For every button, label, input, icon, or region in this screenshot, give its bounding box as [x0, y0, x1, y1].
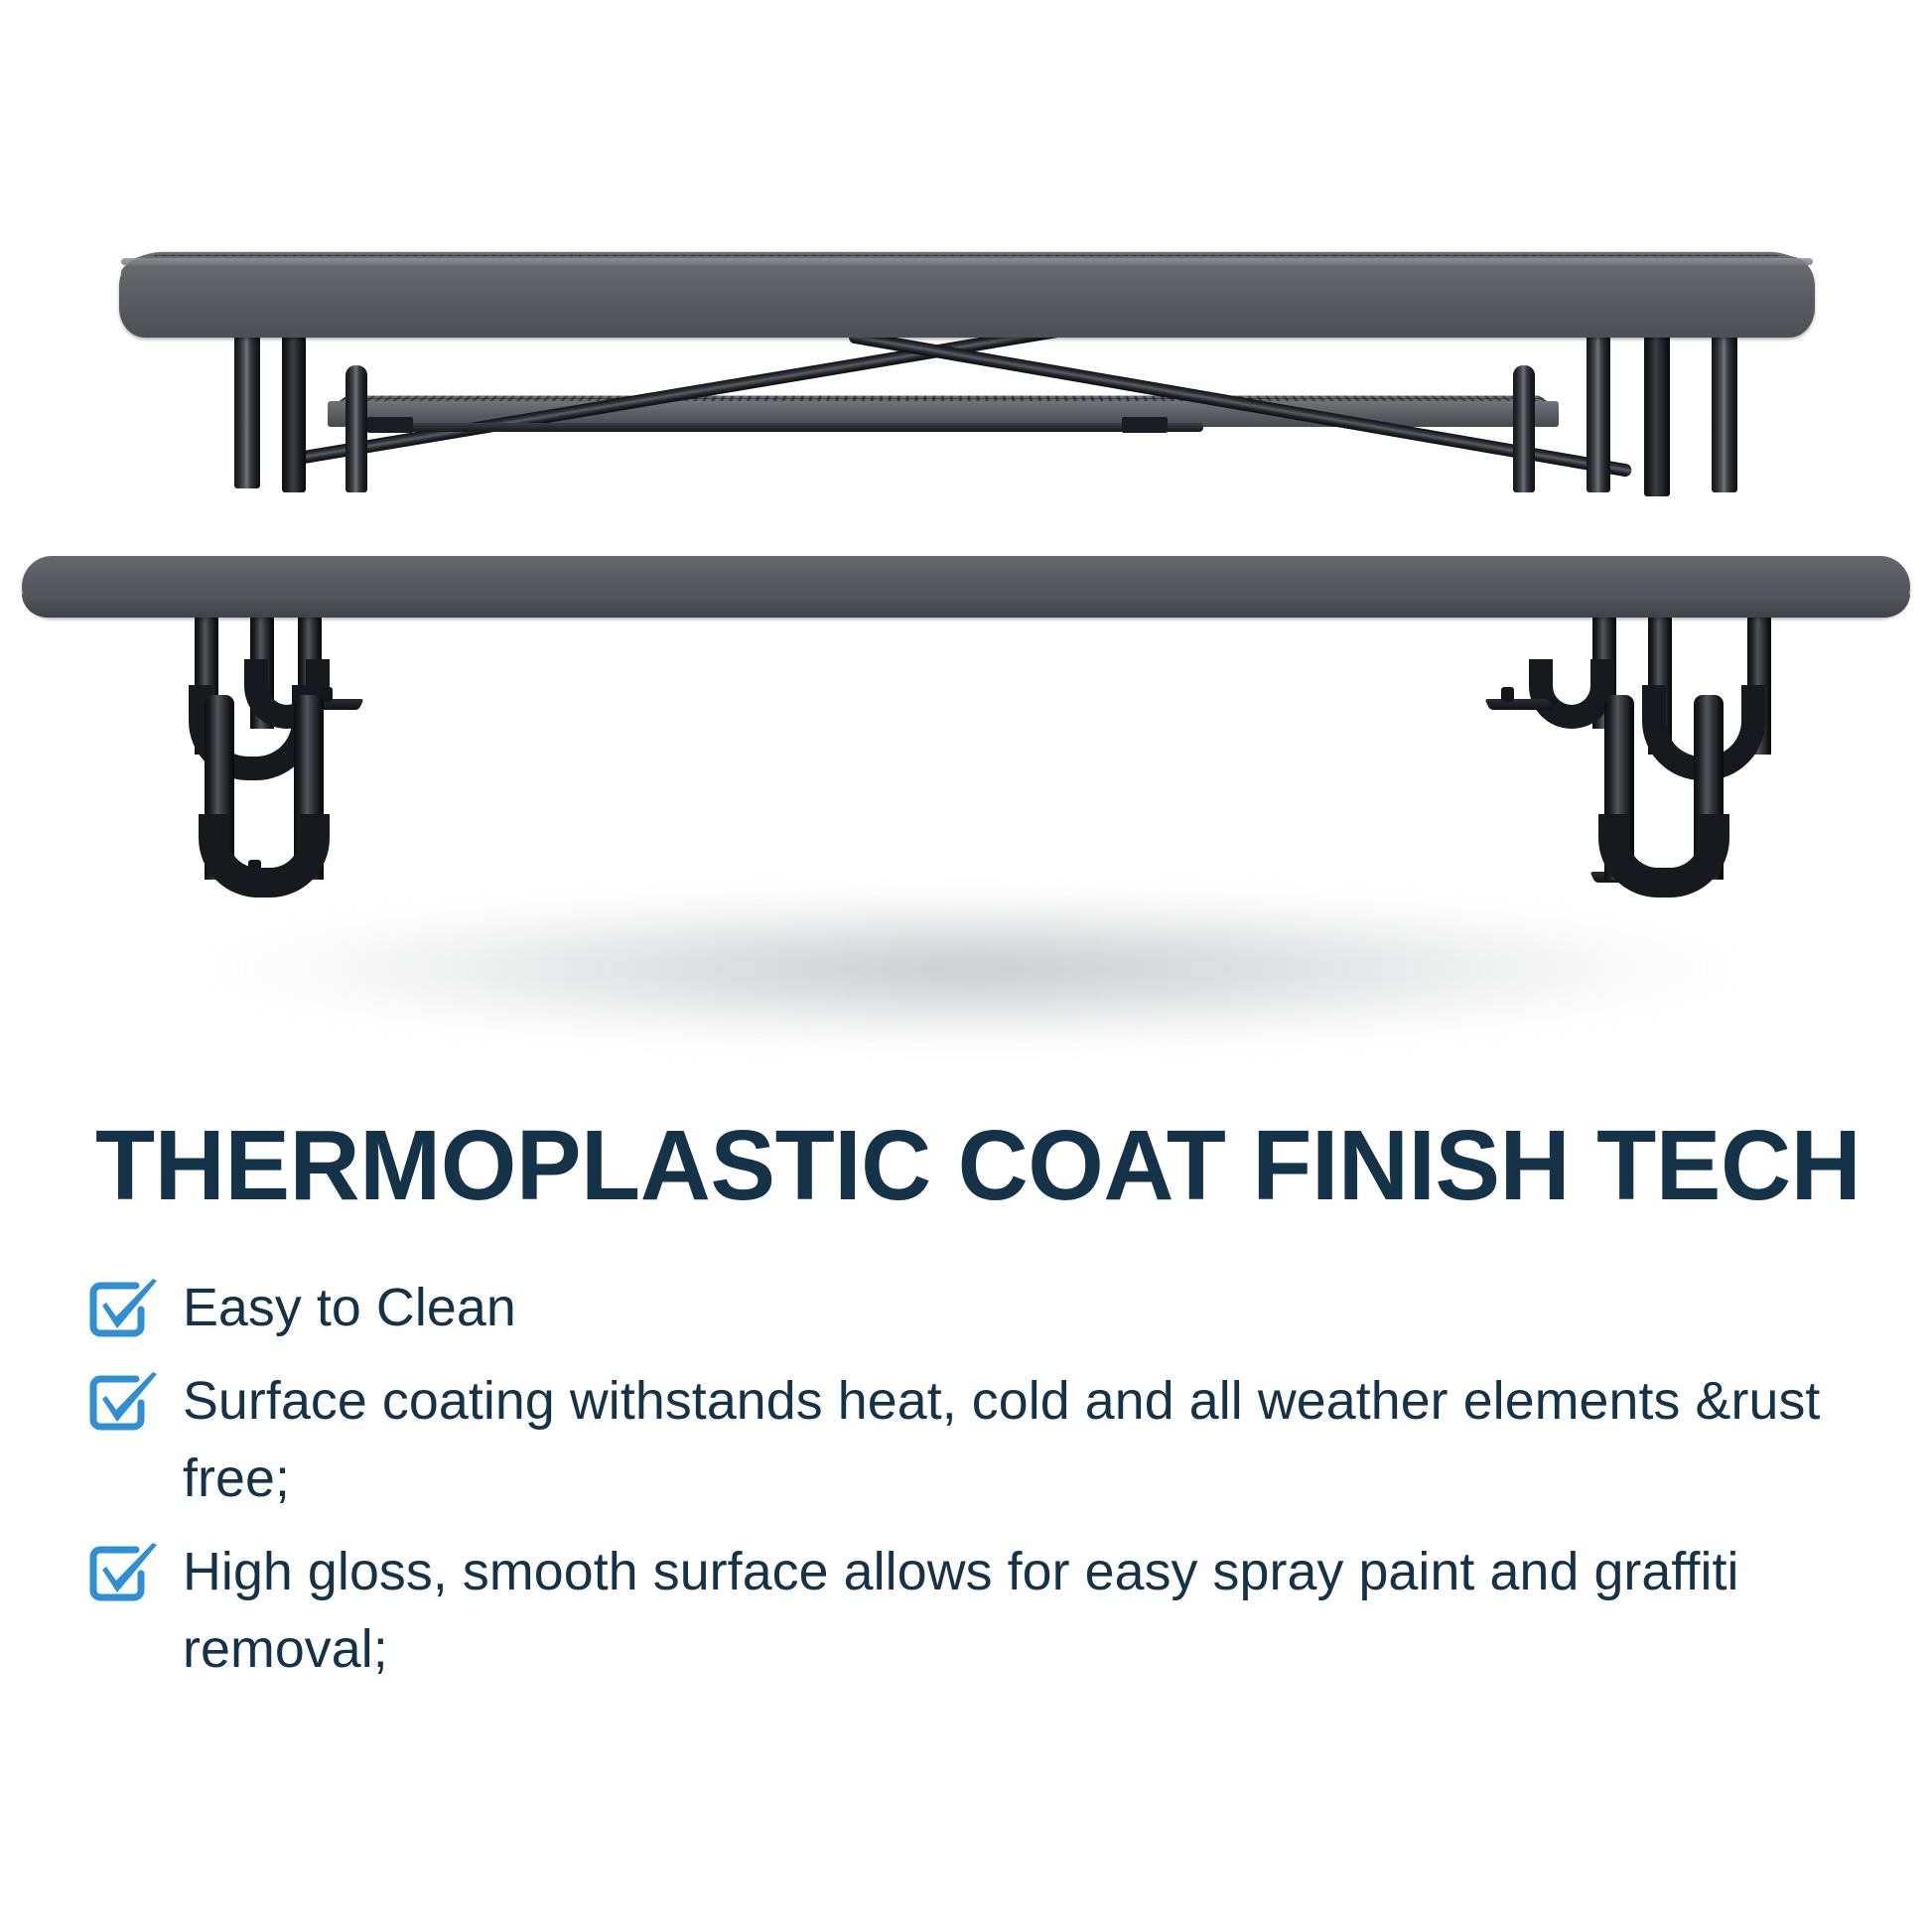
list-item: Surface coating withstands heat, cold an…: [87, 1360, 1894, 1517]
feature-list: Easy to Clean Surface coating withstands…: [87, 1267, 1894, 1702]
table-leg-mid-left: [345, 365, 367, 492]
tabletop-edge-highlight: [121, 258, 1813, 265]
checked-checkbox-icon: [87, 1360, 183, 1432]
feature-text: Easy to Clean: [183, 1267, 1885, 1346]
feature-text: High gloss, smooth surface allows for ea…: [183, 1531, 1885, 1688]
table-leg-mid-right: [1513, 365, 1535, 492]
bench-leg-left-floor-curve: [199, 814, 330, 897]
product-hero-image: [0, 0, 1932, 1082]
picnic-table-illustration: [0, 0, 1932, 1082]
list-item: High gloss, smooth surface allows for ea…: [87, 1531, 1894, 1688]
checked-checkbox-icon: [87, 1267, 183, 1338]
apron-connector-bar: [349, 423, 1203, 432]
bench-leg-right-floor-curve: [1598, 814, 1729, 897]
anchor-foot-bolt-right: [1501, 687, 1514, 702]
product-feature-page: THERMOPLASTIC COAT FINISH TECH Easy to C…: [0, 0, 1932, 1932]
apron-bracket-left: [367, 417, 413, 433]
list-item: Easy to Clean: [87, 1267, 1894, 1346]
feature-text-section: THERMOPLASTIC COAT FINISH TECH Easy to C…: [0, 1082, 1932, 1932]
apron-bracket-right: [1122, 417, 1168, 433]
bench-seat-front-lip: [22, 594, 1910, 618]
checked-checkbox-icon: [87, 1531, 183, 1602]
feature-text: Surface coating withstands heat, cold an…: [183, 1360, 1885, 1517]
page-title: THERMOPLASTIC COAT FINISH TECH: [95, 1114, 1856, 1217]
anchor-foot-plate-right: [1484, 699, 1553, 710]
tabletop-perimeter-frame: [119, 256, 1815, 338]
diagonal-cross-brace-left: [297, 323, 1072, 465]
